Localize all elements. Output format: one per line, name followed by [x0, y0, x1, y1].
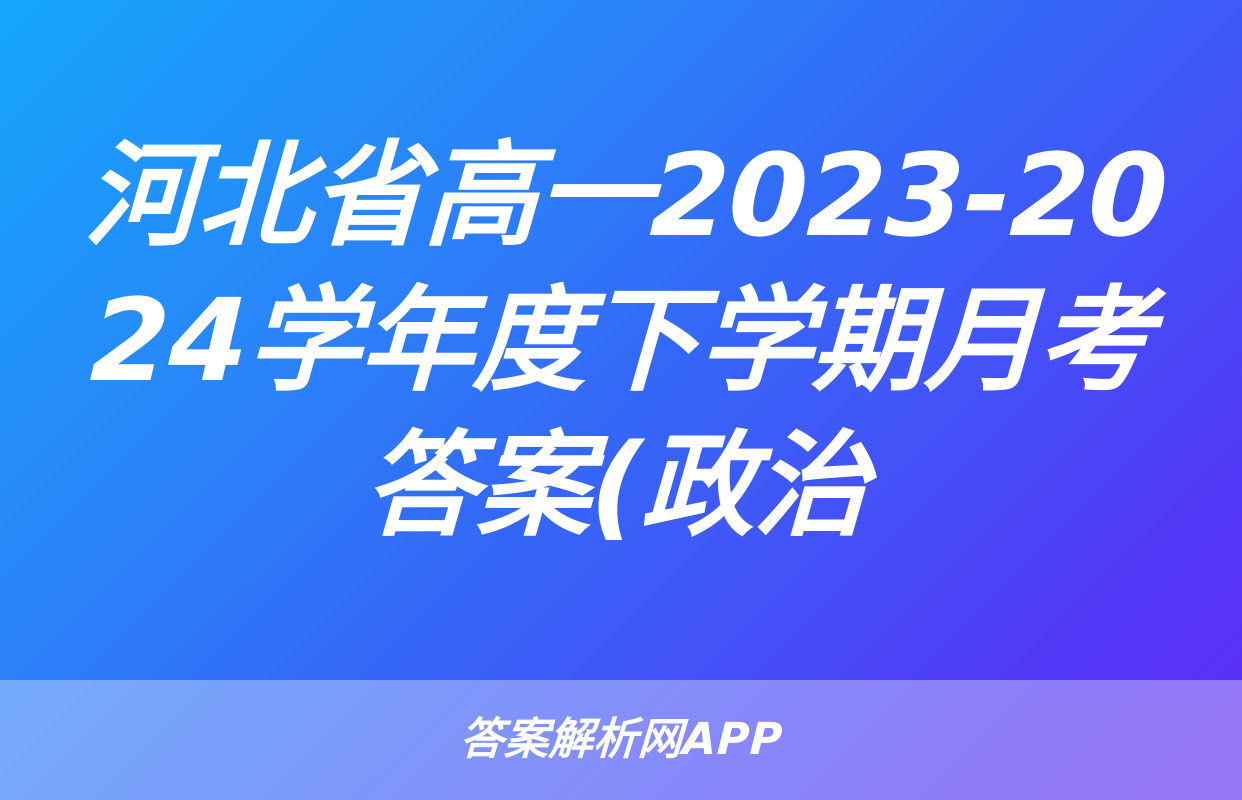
poster-canvas: 河北省高一2023-2024学年度下学期月考答案(政治 答案解析网APP	[0, 0, 1242, 800]
watermark-label: 答案解析网APP	[459, 718, 784, 762]
watermark-band: 答案解析网APP	[0, 680, 1242, 800]
page-title: 河北省高一2023-2024学年度下学期月考答案(政治	[64, 123, 1177, 558]
title-block: 河北省高一2023-2024学年度下学期月考答案(政治	[0, 0, 1242, 680]
